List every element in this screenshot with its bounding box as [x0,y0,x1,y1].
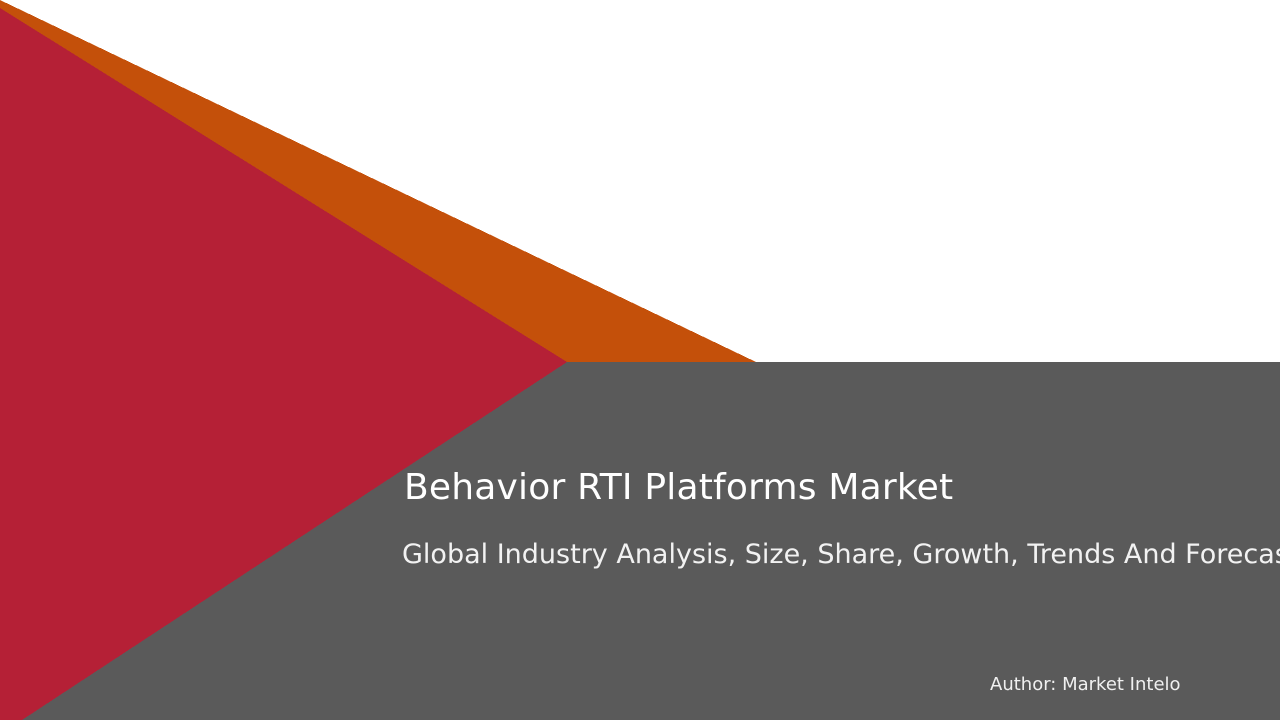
report-cover-page: Behavior RTI Platforms Market Global Ind… [0,0,1280,720]
decorative-geometry [0,0,1280,720]
